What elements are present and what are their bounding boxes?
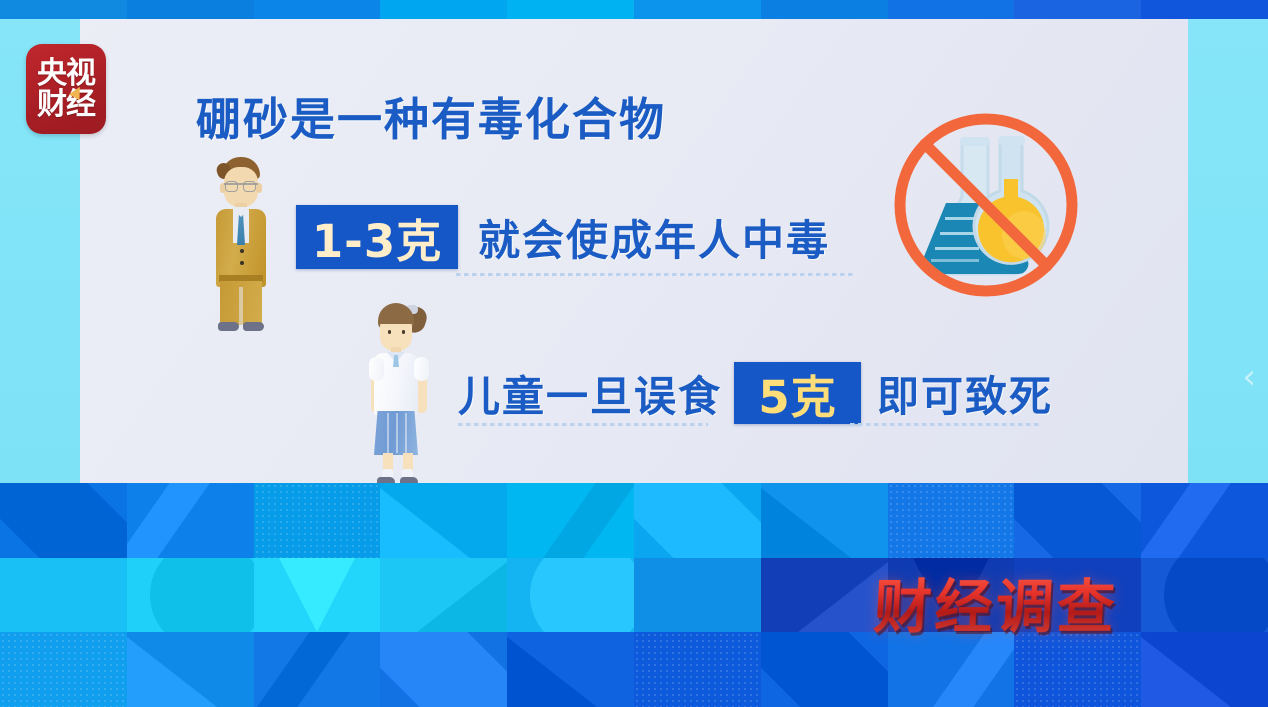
- pattern-tile: [1141, 0, 1268, 19]
- pattern-tile: [1141, 632, 1268, 707]
- pattern-tile: [507, 632, 634, 707]
- logo-line-1: 央视: [37, 59, 95, 89]
- pattern-tile: [761, 483, 888, 558]
- pattern-tile: [634, 0, 761, 19]
- pattern-tile: [254, 0, 381, 19]
- underline-adult: [456, 273, 856, 276]
- pattern-tile: [1014, 483, 1141, 558]
- right-cyan-band: [1188, 19, 1268, 483]
- statement-row-adult: 1-3克 就会使成年人中毒: [296, 205, 830, 269]
- dose-highlight-child: 5克: [734, 362, 861, 424]
- pattern-tile: [380, 483, 507, 558]
- pattern-tile: [888, 0, 1015, 19]
- pattern-tile: [0, 483, 127, 558]
- statement-text-child-after: 即可致死: [877, 363, 1053, 424]
- statement-text-adult: 就会使成年人中毒: [478, 207, 830, 268]
- pattern-tile: [1141, 558, 1268, 633]
- pattern-tile: [127, 558, 254, 633]
- adult-man-icon: [202, 157, 280, 332]
- pattern-tile: [380, 558, 507, 633]
- pattern-tile: [507, 483, 634, 558]
- pattern-tile: [761, 0, 888, 19]
- pattern-tile: [507, 0, 634, 19]
- dose-value-adult: 1-3克: [312, 205, 442, 270]
- pattern-tile: [634, 483, 761, 558]
- pattern-tile: [761, 558, 888, 633]
- statement-row-child: 儿童一旦误食 5克 即可致死: [458, 362, 1053, 424]
- pattern-tile: [127, 0, 254, 19]
- pattern-tile: [1014, 0, 1141, 19]
- logo-line-2-text: 财经: [37, 87, 95, 122]
- pattern-tile: [127, 483, 254, 558]
- pattern-tile: [0, 0, 127, 19]
- pattern-tile: [380, 632, 507, 707]
- pattern-tile: [0, 632, 127, 707]
- pattern-tile: [634, 632, 761, 707]
- pattern-tile: [761, 632, 888, 707]
- page-title: 硼砂是一种有毒化合物: [196, 83, 666, 148]
- pattern-tile: [127, 632, 254, 707]
- infographic-panel: 央视 财经 硼砂是一种有毒化合物: [0, 19, 1268, 483]
- top-pattern-strip: [0, 0, 1268, 19]
- statement-text-child-before: 儿童一旦误食: [458, 363, 722, 424]
- pattern-tile: [0, 558, 127, 633]
- pattern-tile: [380, 0, 507, 19]
- underline-child-left: [458, 423, 708, 426]
- dose-highlight-adult: 1-3克: [296, 205, 458, 269]
- child-girl-icon: [362, 303, 436, 491]
- cctv-finance-logo: 央视 财经: [26, 44, 106, 134]
- logo-line-2: 财经: [37, 90, 95, 120]
- pattern-tile: [254, 558, 381, 633]
- prev-arrow-icon[interactable]: ‹: [1242, 360, 1256, 394]
- no-chemicals-icon: [888, 107, 1084, 303]
- pattern-tile: [888, 483, 1015, 558]
- underline-child-right: [850, 423, 1040, 426]
- video-frame: 央视 财经 硼砂是一种有毒化合物: [0, 0, 1268, 707]
- pattern-tile: [254, 632, 381, 707]
- pattern-tile: [254, 483, 381, 558]
- pattern-tile: [634, 558, 761, 633]
- pattern-tile: [1141, 483, 1268, 558]
- pattern-tile: [507, 558, 634, 633]
- program-title: 财经调查: [872, 560, 1120, 644]
- dose-value-child: 5克: [758, 361, 836, 426]
